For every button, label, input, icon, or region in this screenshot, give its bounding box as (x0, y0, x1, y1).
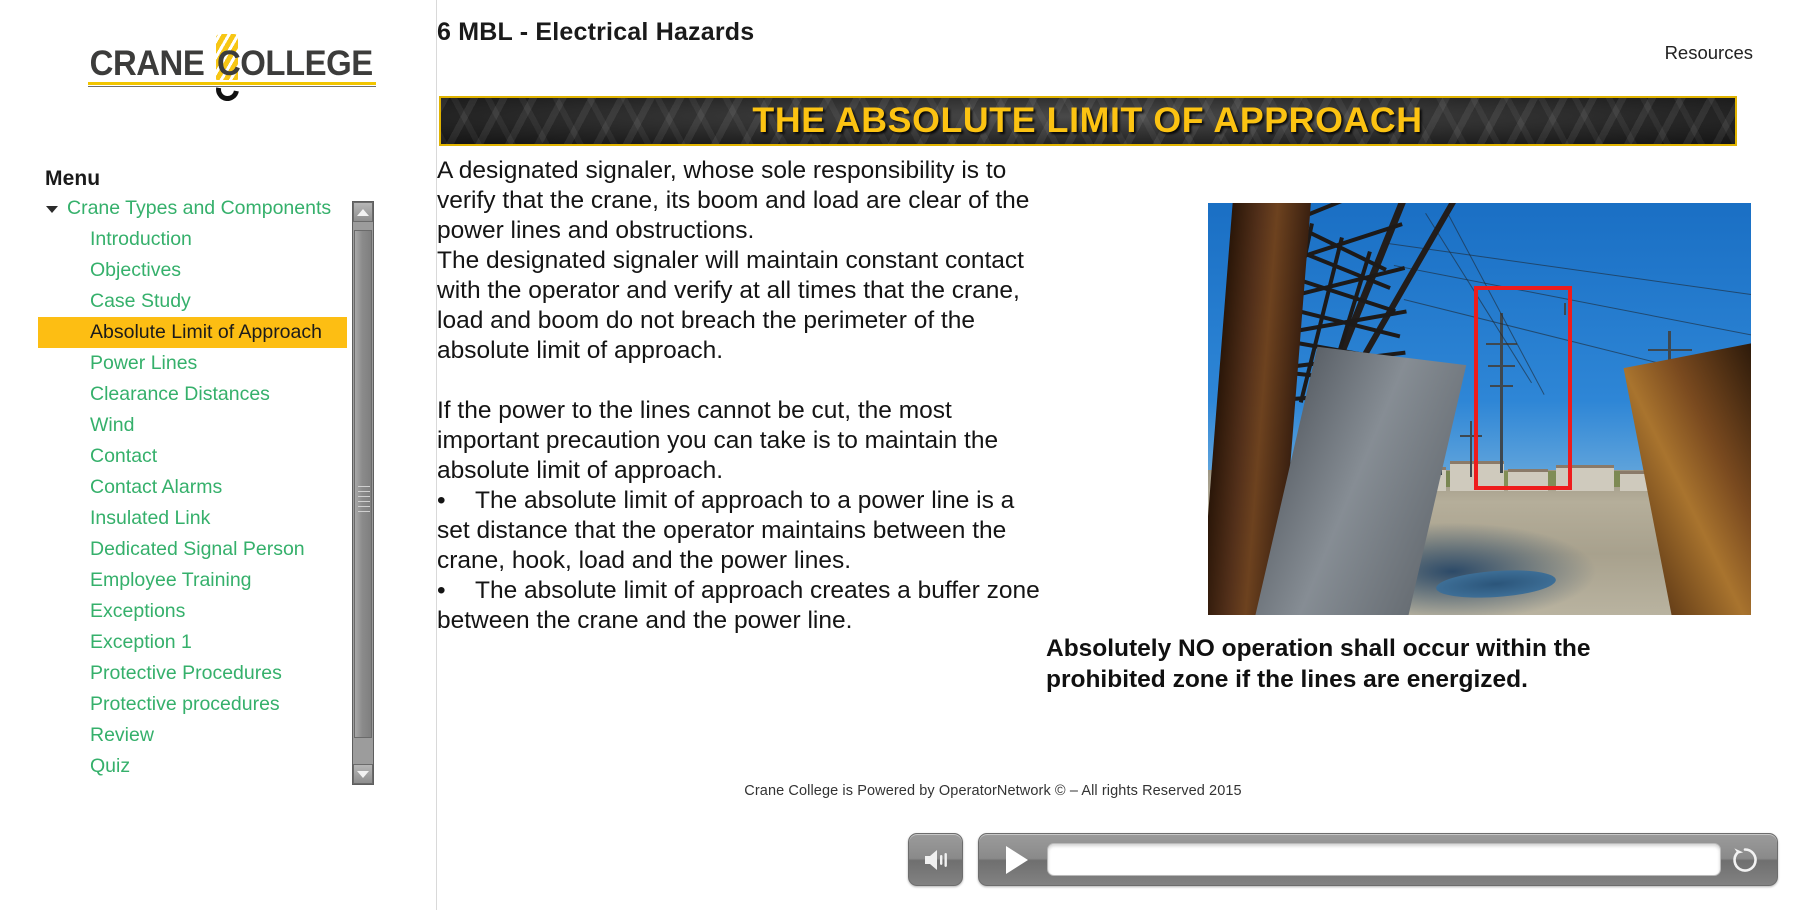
slide-photo (1208, 203, 1751, 615)
sidebar-item-clearance-distances[interactable]: Clearance Distances (38, 379, 390, 410)
sidebar-item-review[interactable]: Review (38, 720, 390, 751)
sidebar-item-wind[interactable]: Wind (38, 410, 390, 441)
logo-word-college: COLLEGE (217, 46, 373, 82)
sidebar-item-case-study[interactable]: Case Study (38, 286, 390, 317)
slide-title-banner: THE ABSOLUTE LIMIT OF APPROACH (439, 96, 1737, 146)
progress-bar[interactable] (1047, 843, 1721, 876)
footer-copyright: Crane College is Powered by OperatorNetw… (437, 783, 1549, 799)
replay-circular-arrow-icon (1730, 845, 1760, 875)
playback-controls (978, 833, 1778, 886)
sidebar-item-insulated-link[interactable]: Insulated Link (38, 503, 390, 534)
sidebar-panel: CRANE COLLEGE Menu Crane Types and Compo… (0, 0, 436, 910)
slide-body-text: A designated signaler, whose sole respon… (437, 156, 1047, 636)
bullet-text-2: The absolute limit of approach creates a… (437, 577, 1040, 634)
bullet-marker-1: • (437, 486, 475, 516)
paragraph-2: The designated signaler will maintain co… (437, 246, 1047, 366)
sidebar-item-protective-procedures-upper[interactable]: Protective Procedures (38, 658, 390, 689)
paragraph-3: If the power to the lines cannot be cut,… (437, 396, 1047, 486)
sidebar-item-employee-training[interactable]: Employee Training (38, 565, 390, 596)
sidebar-item-protective-procedures-lower[interactable]: Protective procedures (38, 689, 390, 720)
resources-link[interactable]: Resources (1665, 42, 1753, 64)
scroll-down-arrow-icon[interactable] (353, 764, 373, 784)
logo-word-crane: CRANE (90, 46, 205, 82)
volume-button[interactable] (908, 833, 963, 886)
scrollbar-thumb[interactable] (354, 230, 372, 738)
sidebar-item-introduction[interactable]: Introduction (38, 224, 390, 255)
photo-caption: Absolutely NO operation shall occur with… (1046, 633, 1606, 695)
scroll-thumb-grip-icon (358, 486, 370, 516)
speaker-volume-icon (922, 847, 950, 873)
menu-heading: Menu (45, 167, 100, 191)
bullet-marker-2: • (437, 576, 475, 606)
triangle-down-icon[interactable] (46, 206, 58, 213)
course-player-window: CRANE COLLEGE Menu Crane Types and Compo… (0, 0, 1797, 910)
logo-underline-gold (88, 82, 376, 85)
play-button[interactable] (995, 840, 1039, 880)
bullet-item-1: •The absolute limit of approach to a pow… (437, 486, 1047, 576)
logo-underline-grey (88, 86, 376, 87)
sidebar-item-power-lines[interactable]: Power Lines (38, 348, 390, 379)
sidebar-item-exception-1[interactable]: Exception 1 (38, 627, 390, 658)
media-player-bar: ❮ PREV NEXT ❯ (437, 830, 1797, 892)
replay-button[interactable] (1725, 840, 1765, 880)
photo-power-pole-crossarm (1648, 349, 1692, 351)
sidebar-item-absolute-limit-of-approach[interactable]: Absolute Limit of Approach (38, 317, 347, 348)
content-area: 6 MBL - Electrical Hazards Resources THE… (437, 0, 1797, 910)
sidebar-item-exceptions[interactable]: Exceptions (38, 596, 390, 627)
tree-root-label: Crane Types and Components (67, 197, 331, 220)
bullet-item-2: •The absolute limit of approach creates … (437, 576, 1047, 636)
scroll-up-arrow-icon[interactable] (353, 202, 373, 222)
paragraph-1: A designated signaler, whose sole respon… (437, 156, 1047, 246)
tree-root-crane-types-and-components[interactable]: Crane Types and Components (38, 193, 390, 224)
sidebar-item-objectives[interactable]: Objectives (38, 255, 390, 286)
course-menu-tree[interactable]: Crane Types and Components Introduction … (38, 193, 390, 793)
crane-college-logo[interactable]: CRANE COLLEGE (88, 38, 376, 110)
play-triangle-icon (1006, 846, 1028, 874)
prohibited-zone-highlight-box (1474, 286, 1572, 490)
paragraph-spacer (437, 366, 1047, 396)
page-title: 6 MBL - Electrical Hazards (437, 18, 754, 47)
sidebar-item-contact-alarms[interactable]: Contact Alarms (38, 472, 390, 503)
slide-title-text: THE ABSOLUTE LIMIT OF APPROACH (753, 101, 1423, 141)
sidebar-item-dedicated-signal-person[interactable]: Dedicated Signal Person (38, 534, 390, 565)
sidebar-item-quiz[interactable]: Quiz (38, 751, 390, 782)
bullet-text-1: The absolute limit of approach to a powe… (437, 487, 1014, 574)
sidebar-item-contact[interactable]: Contact (38, 441, 390, 472)
sidebar-scrollbar[interactable] (352, 201, 374, 785)
